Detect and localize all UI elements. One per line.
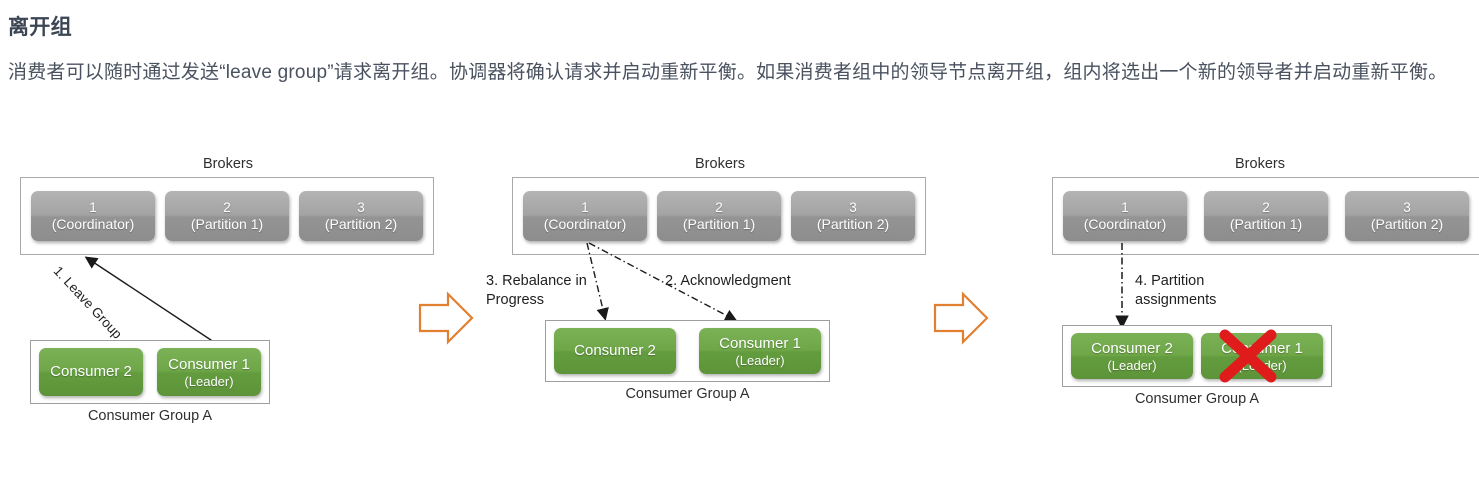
consumer-group-container: Consumer 2 Consumer 1 (Leader) [30, 340, 270, 404]
broker-id: 3 [849, 200, 857, 216]
red-x-mark-icon [1215, 327, 1281, 385]
broker-id: 2 [1262, 200, 1270, 216]
broker-node-1[interactable]: 1 (Coordinator) [31, 191, 155, 241]
consumer-row: Consumer 2 (Leader) Consumer 1 (Leader) [1071, 333, 1323, 379]
broker-node-2[interactable]: 2 (Partition 1) [1204, 191, 1328, 241]
brokers-container: 1 (Coordinator) 2 (Partition 1) 3 (Parti… [20, 177, 434, 255]
consumer-group-label: Consumer Group A [545, 386, 830, 402]
broker-node-1[interactable]: 1 (Coordinator) [1063, 191, 1187, 241]
broker-row: 1 (Coordinator) 2 (Partition 1) 3 (Parti… [1063, 191, 1469, 241]
brokers-title: Brokers [8, 156, 448, 172]
diagram-panel-2: Brokers 1 (Coordinator) 2 (Partition 1) … [500, 150, 940, 440]
broker-role: (Partition 1) [1230, 216, 1302, 232]
broker-id: 2 [223, 200, 231, 216]
consumer-name: Consumer 2 [50, 363, 132, 381]
consumer-node-2[interactable]: Consumer 2 (Leader) [1071, 333, 1193, 379]
brokers-container: 1 (Coordinator) 2 (Partition 1) 3 (Parti… [1052, 177, 1479, 255]
consumer-group-label: Consumer Group A [30, 408, 270, 424]
consumer-role: (Leader) [735, 353, 784, 368]
page-title: 离开组 [8, 14, 1474, 42]
broker-id: 1 [89, 200, 97, 216]
broker-role: (Coordinator) [1084, 216, 1166, 232]
broker-node-1[interactable]: 1 (Coordinator) [523, 191, 647, 241]
broker-node-3[interactable]: 3 (Partition 2) [299, 191, 423, 241]
step-label-acknowledgment: 2. Acknowledgment [665, 272, 791, 291]
article-text-block: 离开组 消费者可以随时通过发送“leave group”请求离开组。协调器将确认… [8, 14, 1474, 90]
consumer-row: Consumer 2 Consumer 1 (Leader) [554, 328, 821, 374]
broker-row: 1 (Coordinator) 2 (Partition 1) 3 (Parti… [523, 191, 915, 241]
consumer-node-1[interactable]: Consumer 1 (Leader) [157, 348, 261, 396]
broker-role: (Coordinator) [52, 216, 134, 232]
broker-role: (Partition 2) [817, 216, 889, 232]
consumer-role: (Leader) [184, 374, 233, 389]
broker-node-2[interactable]: 2 (Partition 1) [165, 191, 289, 241]
broker-role: (Coordinator) [544, 216, 626, 232]
diagram-panel-3: Brokers 1 (Coordinator) 2 (Partition 1) … [1040, 150, 1479, 440]
consumer-row: Consumer 2 Consumer 1 (Leader) [39, 348, 261, 396]
broker-id: 1 [581, 200, 589, 216]
broker-id: 3 [1403, 200, 1411, 216]
consumer-role: (Leader) [1107, 358, 1156, 373]
consumer-node-2[interactable]: Consumer 2 [554, 328, 676, 374]
step-label-leave-group: 1. Leave Group [49, 262, 126, 343]
broker-node-3[interactable]: 3 (Partition 2) [1345, 191, 1469, 241]
step-label-rebalance: 3. Rebalance in Progress [486, 272, 606, 310]
broker-role: (Partition 2) [1371, 216, 1443, 232]
broker-role: (Partition 2) [325, 216, 397, 232]
consumer-node-1[interactable]: Consumer 1 (Leader) [1201, 333, 1323, 379]
step-label-partition-assignments: 4. Partition assignments [1135, 272, 1265, 310]
consumer-name: Consumer 2 [1091, 340, 1173, 358]
consumer-node-1[interactable]: Consumer 1 (Leader) [699, 328, 821, 374]
broker-node-2[interactable]: 2 (Partition 1) [657, 191, 781, 241]
brokers-container: 1 (Coordinator) 2 (Partition 1) 3 (Parti… [512, 177, 926, 255]
diagram-panel-1: Brokers 1 (Coordinator) 2 (Partition 1) … [8, 150, 448, 440]
broker-id: 2 [715, 200, 723, 216]
kafka-leave-group-diagram: Brokers 1 (Coordinator) 2 (Partition 1) … [0, 150, 1479, 440]
consumer-group-container: Consumer 2 (Leader) Consumer 1 (Leader) [1062, 325, 1332, 387]
flow-arrow-2-icon [925, 150, 995, 440]
brokers-title: Brokers [1040, 156, 1479, 172]
broker-id: 1 [1121, 200, 1129, 216]
broker-id: 3 [357, 200, 365, 216]
consumer-name: Consumer 1 [168, 356, 250, 374]
brokers-title: Brokers [500, 156, 940, 172]
broker-row: 1 (Coordinator) 2 (Partition 1) 3 (Parti… [31, 191, 423, 241]
consumer-group-label: Consumer Group A [1062, 391, 1332, 407]
consumer-group-container: Consumer 2 Consumer 1 (Leader) [545, 320, 830, 382]
consumer-name: Consumer 2 [574, 342, 656, 360]
broker-node-3[interactable]: 3 (Partition 2) [791, 191, 915, 241]
consumer-node-2[interactable]: Consumer 2 [39, 348, 143, 396]
broker-role: (Partition 1) [683, 216, 755, 232]
consumer-name: Consumer 1 [719, 335, 801, 353]
flow-arrow-1 [410, 150, 480, 440]
article-paragraph: 消费者可以随时通过发送“leave group”请求离开组。协调器将确认请求并启… [8, 56, 1474, 90]
broker-role: (Partition 1) [191, 216, 263, 232]
flow-arrow-2 [925, 150, 995, 440]
flow-arrow-1-icon [410, 150, 480, 440]
